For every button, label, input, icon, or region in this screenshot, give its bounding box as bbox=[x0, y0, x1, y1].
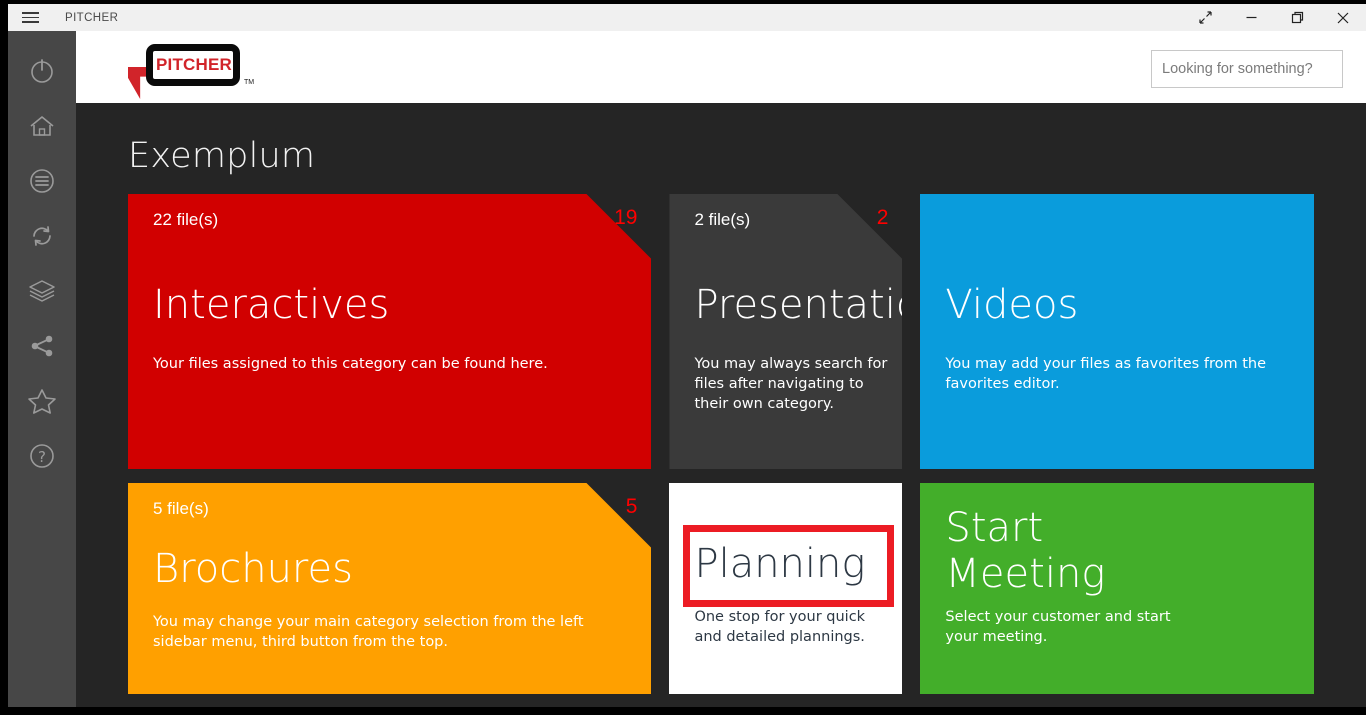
tile-videos[interactable]: Videos You may add your files as favorit… bbox=[920, 194, 1314, 469]
star-icon bbox=[26, 386, 58, 416]
sidebar-item-power[interactable] bbox=[8, 43, 76, 98]
tile-description: One stop for your quick and detailed pla… bbox=[694, 607, 894, 647]
page-title: Exemplum bbox=[128, 136, 315, 176]
home-icon bbox=[27, 111, 57, 141]
tile-badge: 5 bbox=[626, 495, 638, 519]
expand-diagonal-icon[interactable] bbox=[1182, 4, 1228, 31]
pitcher-logo: PITCHER TM bbox=[128, 41, 263, 95]
sidebar-item-layers[interactable] bbox=[8, 263, 76, 318]
tile-description: Select your customer and start your meet… bbox=[945, 607, 1205, 647]
minimize-icon[interactable] bbox=[1228, 4, 1274, 31]
tile-surface bbox=[669, 194, 902, 469]
tile-badge: 2 bbox=[877, 206, 889, 230]
content-area: PITCHER TM Exemplum 22 file(s) 19 Intera… bbox=[76, 31, 1366, 707]
tile-description: You may change your main category select… bbox=[153, 612, 638, 652]
logo-wordmark: PITCHER bbox=[155, 55, 233, 75]
tile-description: Your files assigned to this category can… bbox=[153, 354, 548, 374]
tile-brochures[interactable]: 5 file(s) 5 Brochures You may change you… bbox=[128, 483, 651, 694]
app-header: PITCHER TM bbox=[76, 31, 1366, 103]
tile-title: Presentations bbox=[694, 282, 902, 328]
sidebar-item-help[interactable]: ? bbox=[8, 428, 76, 483]
tile-interactives[interactable]: 22 file(s) 19 Interactives Your files as… bbox=[128, 194, 651, 469]
tile-surface bbox=[669, 483, 902, 694]
tile-grid: 22 file(s) 19 Interactives Your files as… bbox=[128, 194, 1314, 694]
tile-title: Start Meeting bbox=[945, 505, 1185, 597]
layers-icon bbox=[26, 276, 58, 306]
tile-surface bbox=[128, 194, 651, 469]
logo-trademark: TM bbox=[244, 79, 254, 86]
tile-description: You may always search for files after na… bbox=[694, 354, 894, 414]
sidebar-item-share[interactable] bbox=[8, 318, 76, 373]
application-window: PITCHER bbox=[0, 0, 1366, 715]
sidebar-item-home[interactable] bbox=[8, 98, 76, 153]
close-icon[interactable] bbox=[1320, 4, 1366, 31]
sync-icon bbox=[27, 221, 57, 251]
sidebar: ? bbox=[8, 31, 76, 707]
tile-presentations[interactable]: 2 file(s) 2 Presentations You may always… bbox=[669, 194, 902, 469]
tile-planning[interactable]: Planning One stop for your quick and det… bbox=[669, 483, 902, 694]
sidebar-item-favorites[interactable] bbox=[8, 373, 76, 428]
tile-title: Interactives bbox=[153, 282, 389, 328]
menu-icon bbox=[27, 166, 57, 196]
tile-badge: 19 bbox=[614, 206, 637, 230]
tile-file-count: 5 file(s) bbox=[153, 499, 209, 519]
svg-text:?: ? bbox=[38, 448, 46, 466]
tile-surface bbox=[920, 194, 1314, 469]
restore-icon[interactable] bbox=[1274, 4, 1320, 31]
search-input[interactable] bbox=[1151, 50, 1343, 88]
hamburger-icon[interactable] bbox=[8, 4, 52, 31]
sidebar-item-sync[interactable] bbox=[8, 208, 76, 263]
tile-file-count: 22 file(s) bbox=[153, 210, 218, 230]
tile-title: Brochures bbox=[153, 546, 353, 592]
tile-description: You may add your files as favorites from… bbox=[945, 354, 1290, 394]
tile-file-count: 2 file(s) bbox=[694, 210, 750, 230]
share-icon bbox=[27, 331, 57, 361]
tile-title: Videos bbox=[945, 282, 1078, 328]
window-controls bbox=[1182, 4, 1366, 31]
tile-start-meeting[interactable]: Start Meeting Select your customer and s… bbox=[920, 483, 1314, 694]
power-icon bbox=[27, 56, 57, 86]
sidebar-item-menu[interactable] bbox=[8, 153, 76, 208]
help-icon: ? bbox=[27, 441, 57, 471]
window-title: PITCHER bbox=[65, 12, 118, 24]
title-bar: PITCHER bbox=[8, 4, 1366, 31]
tile-title: Planning bbox=[694, 541, 865, 587]
